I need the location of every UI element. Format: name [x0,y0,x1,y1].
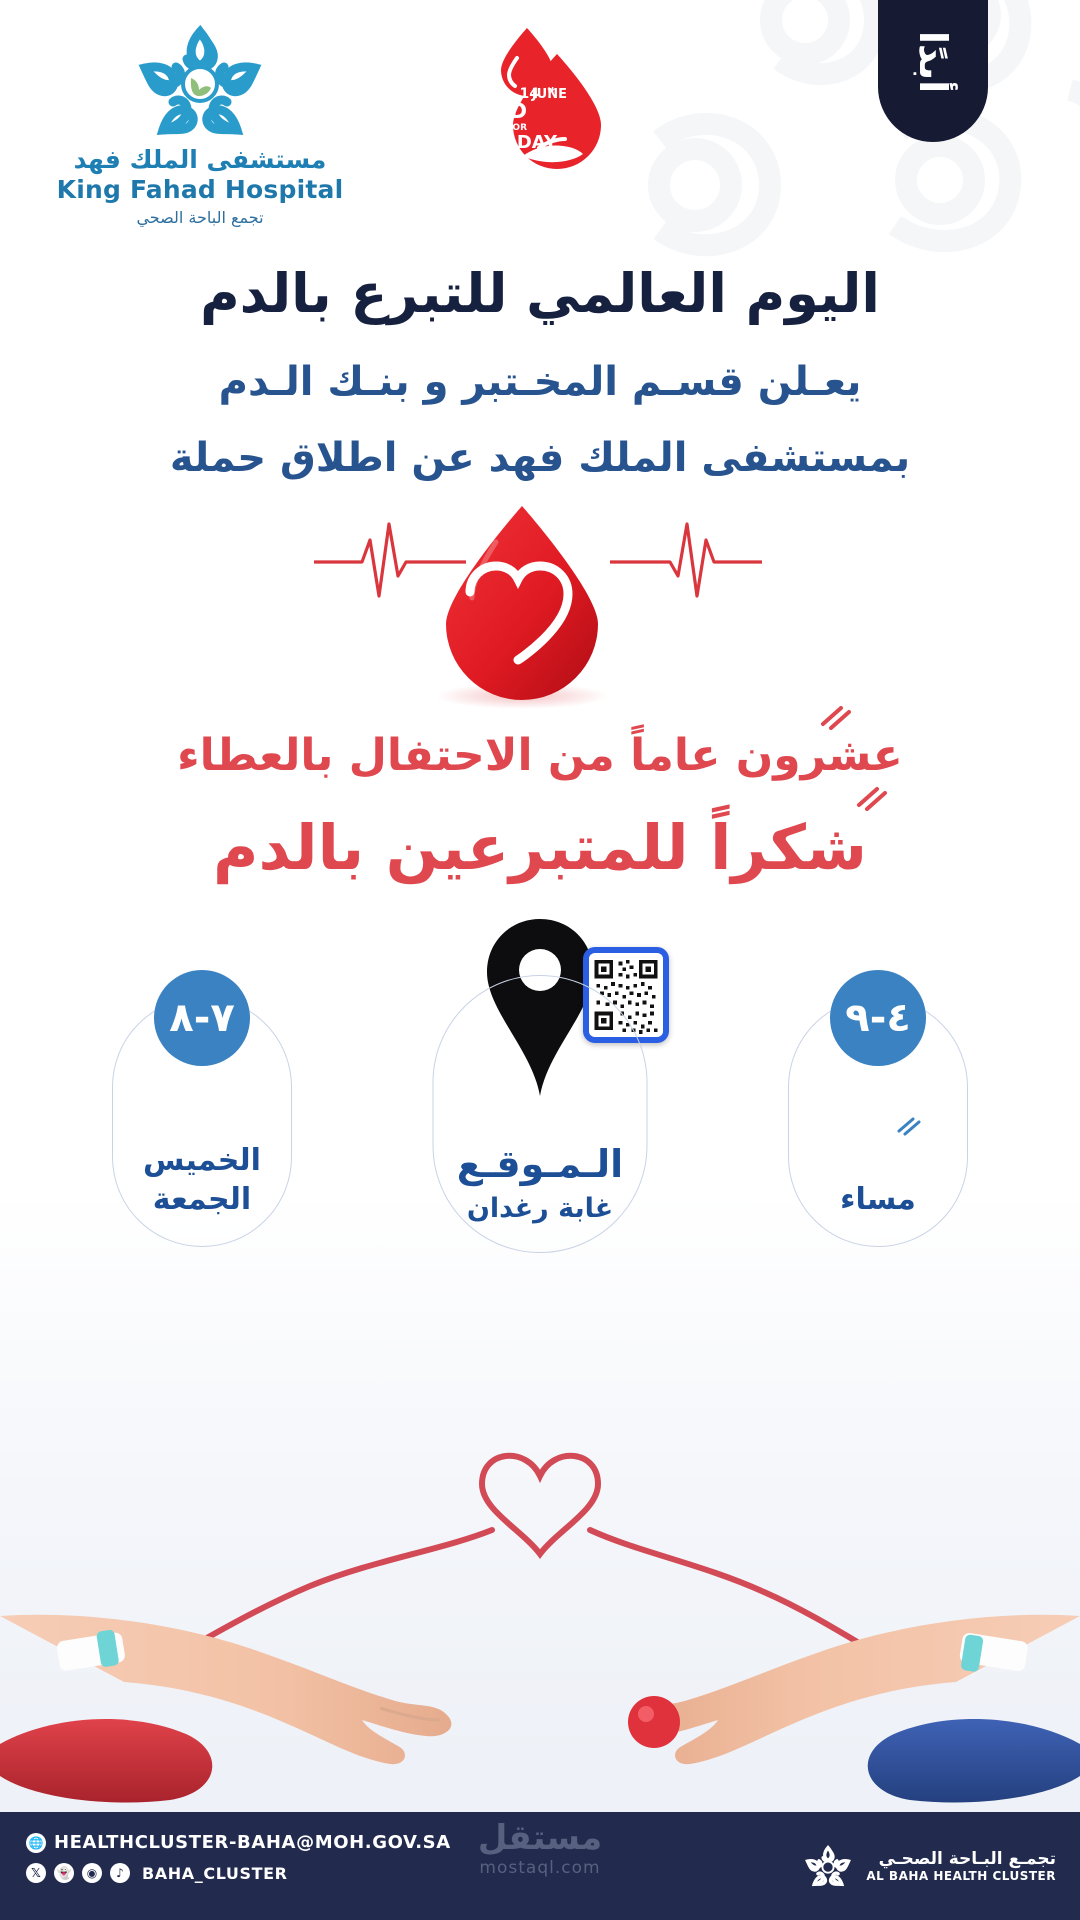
card-days[interactable]: ٧-٨ الخميس الجمعة [112,997,292,1247]
svg-text:WORLD: WORLD [465,99,527,123]
accent-slash-icon [853,785,889,811]
poster-header: مستشفى الملك فهد King Fahad Hospital تجم… [0,0,1080,210]
page-title: اليوم العالمي للتبرع بالدم [0,262,1080,326]
saudi-health-star-icon [800,1838,856,1894]
watermark-text-en: mostaql.com [478,1858,602,1878]
poster-footer: 🌐 HEALTHCLUSTER-BAHA@MOH.GOV.SA 𝕏 👻 ◉ ♪ … [0,1812,1080,1920]
card-days-line-2: الجمعة [153,1180,251,1220]
slogan-line-2: شكراً للمتبرعين بالدم [0,811,1080,884]
card-days-pill: ٧-٨ [154,970,250,1066]
accent-slash-icon [895,1116,923,1136]
snapchat-icon[interactable]: 👻 [54,1863,74,1883]
hero-illustration [0,500,1080,730]
headline-block: اليوم العالمي للتبرع بالدم يعـلن قسـم ال… [0,262,1080,488]
blood-donation-arms-icon [0,1404,1080,1834]
card-location-title: الـمـوقـع [457,1141,623,1189]
headline-line-2: يعـلن قسـم المخـتبر و بنـك الـدم [0,352,1080,412]
x-icon[interactable]: 𝕏 [26,1863,46,1883]
card-time-lines: مساء [840,1180,916,1220]
card-location[interactable]: الـمـوقـع غابة رغدان [433,975,648,1253]
footer-social-row[interactable]: 𝕏 👻 ◉ ♪ BAHA_CLUSTER [26,1863,451,1883]
svg-text:JUNE: JUNE [531,87,567,102]
card-days-line-1: الخميس [143,1141,261,1181]
footer-cluster-en: AL BAHA HEALTH CLUSTER [866,1869,1056,1883]
footer-email: HEALTHCLUSTER-BAHA@MOH.GOV.SA [54,1832,451,1853]
hospital-cluster-ar: تجمع الباحة الصحي [55,208,345,227]
slogan-block: عشرون عاماً من الاحتفال بالعطاء شكراً لل… [0,730,1080,884]
watermark-text-ar: مستقل [478,1818,602,1858]
hospital-name-ar: مستشفى الملك فهد [55,146,345,175]
tiktok-icon[interactable]: ♪ [110,1863,130,1883]
footer-contact: 🌐 HEALTHCLUSTER-BAHA@MOH.GOV.SA 𝕏 👻 ◉ ♪ … [26,1832,451,1893]
slogan-line-1: عشرون عاماً من الاحتفال بالعطاء [177,730,903,781]
footer-email-row[interactable]: 🌐 HEALTHCLUSTER-BAHA@MOH.GOV.SA [26,1832,451,1853]
world-blood-donor-day-logo: 14 th JUNE WORLD BLOOD DONOR DAY [465,24,615,174]
info-cards: ٤-٩ مساء الـمـوقـع غابة رغدان ٧-٨ الخميس… [0,975,1080,1265]
hospital-logo: مستشفى الملك فهد King Fahad Hospital تجم… [55,22,345,227]
card-time-pill: ٤-٩ [830,970,926,1066]
mostaql-watermark: مستقل mostaql.com [478,1818,602,1878]
headline-line-3: بمستشفى الملك فهد عن اطلاق حملة [0,428,1080,488]
instagram-icon[interactable]: ◉ [82,1863,102,1883]
slogan-line-1-text: عشرون عاماً من الاحتفال بالعطاء [177,730,903,781]
poster-root: مستشفى الملك فهد King Fahad Hospital تجم… [0,0,1080,1920]
footer-cluster-ar: تجمـع البـاحة الصحـي [866,1849,1056,1869]
card-location-sub: غابة رغدان [467,1191,613,1226]
hospital-name-en: King Fahad Hospital [55,175,345,205]
corner-badge-text: أبدًا [911,31,955,93]
blood-drop-heart-ecg-icon [310,500,770,720]
globe-icon: 🌐 [26,1833,46,1853]
corner-badge: أبدًا [878,0,988,142]
footer-cluster-logo: تجمـع البـاحة الصحـي AL BAHA HEALTH CLUS… [800,1838,1056,1894]
saudi-health-star-icon [125,22,275,140]
card-time[interactable]: ٤-٩ مساء [788,997,968,1247]
footer-handle: BAHA_CLUSTER [142,1864,288,1883]
